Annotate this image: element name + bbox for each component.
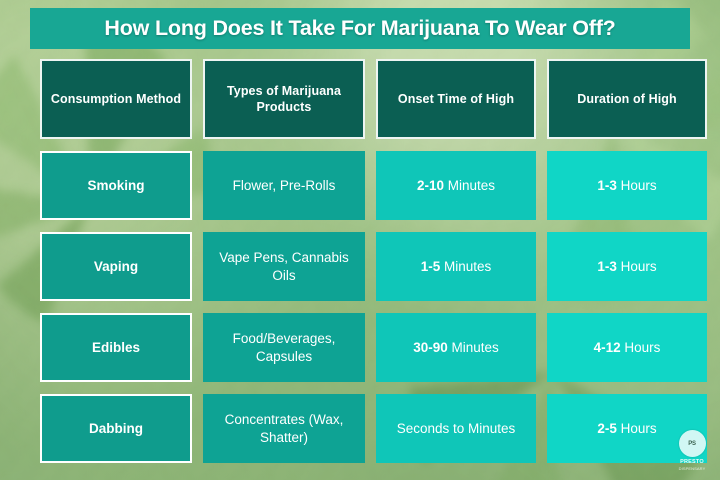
table-cell-onset: Seconds to Minutes [376, 394, 536, 463]
table-cell-duration: 1-3 Hours [547, 232, 707, 301]
table-cell-products: Vape Pens, Cannabis Oils [203, 232, 365, 301]
table-cell-duration: 4-12 Hours [547, 313, 707, 382]
logo-monogram: PS [688, 441, 695, 447]
onset-unit: Seconds to Minutes [397, 420, 516, 437]
table-cell-products: Food/Beverages, Capsules [203, 313, 365, 382]
table-header-consumption-method: Consumption Method [40, 59, 192, 139]
onset-value: 1-5 [421, 259, 441, 274]
duration-value: 1-3 [597, 259, 617, 274]
duration-unit: Hours [621, 340, 661, 355]
title-banner: How Long Does It Take For Marijuana To W… [30, 8, 690, 49]
duration-unit: Hours [617, 421, 657, 436]
duration-value: 4-12 [594, 340, 621, 355]
logo-icon: PS [679, 430, 706, 457]
table-cell-onset: 30-90 Minutes [376, 313, 536, 382]
table-cell-products: Flower, Pre-Rolls [203, 151, 365, 220]
brand-name: PRESTO [680, 459, 704, 465]
table-cell-products: Concentrates (Wax, Shatter) [203, 394, 365, 463]
table-header-onset-time: Onset Time of High [376, 59, 536, 139]
duration-unit: Hours [617, 259, 657, 274]
onset-unit: Minutes [440, 259, 491, 274]
onset-value: 30-90 [413, 340, 448, 355]
table-cell-method: Vaping [40, 232, 192, 301]
onset-unit: Minutes [444, 178, 495, 193]
table-header-product-types: Types of Marijuana Products [203, 59, 365, 139]
onset-unit: Minutes [448, 340, 499, 355]
table-cell-onset: 1-5 Minutes [376, 232, 536, 301]
table-cell-method: Edibles [40, 313, 192, 382]
comparison-table: Consumption Method Types of Marijuana Pr… [40, 59, 690, 463]
page-title: How Long Does It Take For Marijuana To W… [104, 16, 615, 41]
table-header-duration: Duration of High [547, 59, 707, 139]
onset-value: 2-10 [417, 178, 444, 193]
brand-watermark: PS PRESTO DISPENSARY [672, 430, 712, 474]
table-cell-method: Smoking [40, 151, 192, 220]
table-cell-onset: 2-10 Minutes [376, 151, 536, 220]
brand-subtitle: DISPENSARY [679, 466, 706, 471]
duration-value: 1-3 [597, 178, 617, 193]
duration-value: 2-5 [597, 421, 617, 436]
duration-unit: Hours [617, 178, 657, 193]
table-cell-method: Dabbing [40, 394, 192, 463]
table-cell-duration: 1-3 Hours [547, 151, 707, 220]
